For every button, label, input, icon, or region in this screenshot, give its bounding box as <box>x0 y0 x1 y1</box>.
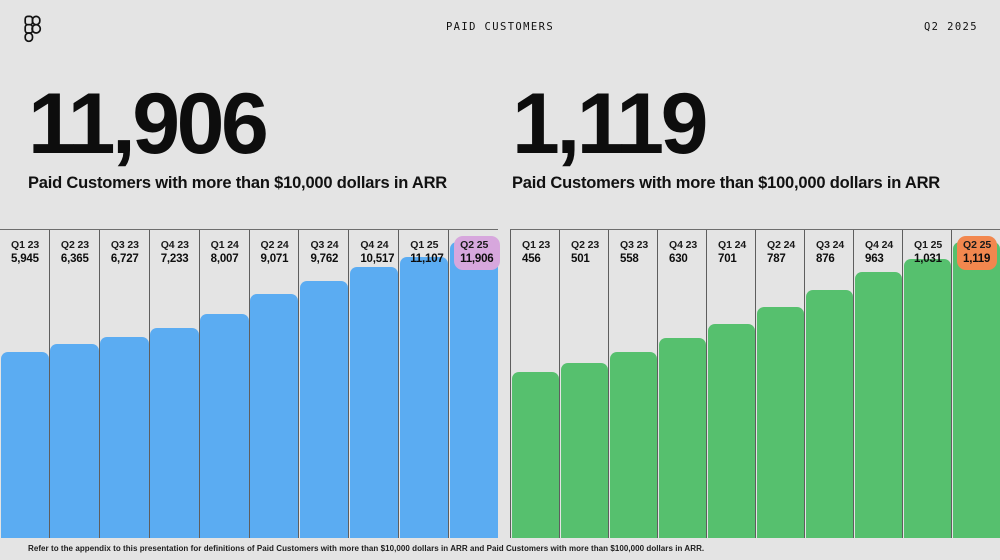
chart-period-text: Q1 25 <box>914 239 942 252</box>
chart-column-label: Q3 24876 <box>810 236 850 270</box>
chart-column-label: Q1 235,945 <box>5 236 45 270</box>
chart-column[interactable]: Q1 251,031 <box>902 230 951 538</box>
chart-value-text: 11,906 <box>460 252 493 266</box>
chart-column[interactable]: Q4 237,233 <box>149 230 199 538</box>
chart-value-text: 558 <box>620 252 648 266</box>
chart-column[interactable]: Q2 251,119 <box>951 230 1000 538</box>
chart-value-text: 1,119 <box>963 252 991 266</box>
chart-bar[interactable] <box>450 242 498 538</box>
chart-column[interactable]: Q1 23456 <box>510 230 559 538</box>
chart-column[interactable]: Q2 24787 <box>755 230 804 538</box>
chart-value-text: 6,727 <box>111 252 139 266</box>
chart-value-text: 11,107 <box>410 252 443 266</box>
chart-bar[interactable] <box>200 314 248 538</box>
chart-column-label: Q2 23501 <box>565 236 605 270</box>
chart-column-label: Q2 236,365 <box>55 236 95 270</box>
chart-bar[interactable] <box>400 257 448 539</box>
chart-bar[interactable] <box>50 344 98 538</box>
chart-value-text: 701 <box>718 252 746 266</box>
chart-column[interactable]: Q4 24963 <box>853 230 902 538</box>
chart-columns: Q1 235,945Q2 236,365Q3 236,727Q4 237,233… <box>0 230 498 538</box>
chart-column[interactable]: Q3 236,727 <box>99 230 149 538</box>
chart-period-text: Q4 24 <box>360 239 394 252</box>
chart-bar[interactable] <box>806 290 854 539</box>
chart-column-label: Q3 236,727 <box>105 236 145 270</box>
chart-column-label: Q3 249,762 <box>304 236 344 270</box>
chart-column-label: Q3 23558 <box>614 236 654 270</box>
chart-column-label: Q1 23456 <box>516 236 556 270</box>
kpi-value-10k: 11,906 <box>28 78 447 170</box>
chart-bar[interactable] <box>512 372 560 538</box>
chart-value-text: 10,517 <box>360 252 394 266</box>
page-title: PAID CUSTOMERS <box>0 21 1000 33</box>
chart-column[interactable]: Q1 248,007 <box>199 230 249 538</box>
chart-value-text: 456 <box>522 252 550 266</box>
chart-period-text: Q1 23 <box>11 239 39 252</box>
chart-period-text: Q2 25 <box>963 239 991 252</box>
kpi-label-10k: Paid Customers with more than $10,000 do… <box>28 174 447 193</box>
chart-bar[interactable] <box>100 337 148 538</box>
chart-period-text: Q3 24 <box>816 239 844 252</box>
chart-column[interactable]: Q1 235,945 <box>0 230 49 538</box>
page-header: PAID CUSTOMERS Q2 2025 <box>0 0 1000 56</box>
chart-period-text: Q3 23 <box>111 239 139 252</box>
chart-value-text: 1,031 <box>914 252 942 266</box>
chart-period-text: Q2 25 <box>460 239 493 252</box>
chart-column[interactable]: Q2 236,365 <box>49 230 99 538</box>
kpi-block-10k: 11,906 Paid Customers with more than $10… <box>28 78 447 193</box>
chart-period-text: Q4 23 <box>669 239 697 252</box>
chart-column-label: Q2 249,071 <box>255 236 295 270</box>
chart-period-text: Q4 23 <box>161 239 189 252</box>
chart-bar[interactable] <box>855 272 903 538</box>
chart-columns: Q1 23456Q2 23501Q3 23558Q4 23630Q1 24701… <box>510 230 1000 538</box>
chart-value-text: 9,762 <box>310 252 338 266</box>
chart-bar[interactable] <box>250 294 298 538</box>
chart-value-text: 9,071 <box>261 252 289 266</box>
bar-chart-100k: Q1 23456Q2 23501Q3 23558Q4 23630Q1 24701… <box>510 229 1000 538</box>
chart-bar[interactable] <box>561 363 609 538</box>
chart-period-text: Q1 25 <box>410 239 443 252</box>
chart-column-label: Q4 2410,517 <box>354 236 400 270</box>
chart-column-label: Q1 251,031 <box>908 236 948 270</box>
chart-period-text: Q1 24 <box>211 239 239 252</box>
chart-bar[interactable] <box>953 242 1000 538</box>
kpi-label-100k: Paid Customers with more than $100,000 d… <box>512 174 940 193</box>
chart-period-text: Q2 24 <box>767 239 795 252</box>
chart-bar[interactable] <box>1 352 49 538</box>
chart-period-text: Q2 24 <box>261 239 289 252</box>
chart-column[interactable]: Q4 23630 <box>657 230 706 538</box>
chart-column-label: Q4 24963 <box>859 236 899 270</box>
chart-column-label: Q2 24787 <box>761 236 801 270</box>
chart-bar[interactable] <box>610 352 658 538</box>
chart-period-text: Q1 23 <box>522 239 550 252</box>
chart-value-text: 5,945 <box>11 252 39 266</box>
chart-column[interactable]: Q2 23501 <box>559 230 608 538</box>
reporting-period: Q2 2025 <box>924 21 978 33</box>
chart-value-text: 963 <box>865 252 893 266</box>
chart-column[interactable]: Q2 249,071 <box>249 230 299 538</box>
chart-period-text: Q1 24 <box>718 239 746 252</box>
chart-value-text: 6,365 <box>61 252 89 266</box>
chart-bar[interactable] <box>659 338 707 538</box>
chart-bar[interactable] <box>708 324 756 538</box>
chart-period-text: Q3 24 <box>310 239 338 252</box>
footnote-disclaimer: Refer to the appendix to this presentati… <box>28 544 972 553</box>
chart-value-text: 876 <box>816 252 844 266</box>
chart-bar[interactable] <box>300 281 348 538</box>
chart-column[interactable]: Q3 249,762 <box>298 230 348 538</box>
chart-value-text: 501 <box>571 252 599 266</box>
kpi-value-100k: 1,119 <box>512 78 940 170</box>
chart-column-label-highlighted: Q2 2511,906 <box>454 236 499 270</box>
chart-value-text: 8,007 <box>211 252 239 266</box>
chart-bar[interactable] <box>350 267 398 538</box>
chart-column[interactable]: Q1 2511,107 <box>398 230 448 538</box>
chart-column-label: Q4 23630 <box>663 236 703 270</box>
chart-period-text: Q2 23 <box>61 239 89 252</box>
chart-column-label: Q4 237,233 <box>155 236 195 270</box>
kpi-block-100k: 1,119 Paid Customers with more than $100… <box>512 78 940 193</box>
chart-column-label: Q1 2511,107 <box>404 236 449 270</box>
bar-chart-10k: Q1 235,945Q2 236,365Q3 236,727Q4 237,233… <box>0 229 498 538</box>
chart-column[interactable]: Q2 2511,906 <box>448 230 498 538</box>
chart-column-label-highlighted: Q2 251,119 <box>957 236 997 270</box>
chart-column[interactable]: Q1 24701 <box>706 230 755 538</box>
chart-period-text: Q2 23 <box>571 239 599 252</box>
chart-value-text: 630 <box>669 252 697 266</box>
chart-column-label: Q1 24701 <box>712 236 752 270</box>
chart-column[interactable]: Q3 24876 <box>804 230 853 538</box>
chart-period-text: Q4 24 <box>865 239 893 252</box>
chart-value-text: 787 <box>767 252 795 266</box>
chart-period-text: Q3 23 <box>620 239 648 252</box>
chart-column[interactable]: Q3 23558 <box>608 230 657 538</box>
chart-bar[interactable] <box>150 328 198 538</box>
chart-value-text: 7,233 <box>161 252 189 266</box>
chart-bar[interactable] <box>904 259 952 538</box>
chart-bar[interactable] <box>757 307 805 538</box>
chart-column-label: Q1 248,007 <box>205 236 245 270</box>
chart-column[interactable]: Q4 2410,517 <box>348 230 398 538</box>
